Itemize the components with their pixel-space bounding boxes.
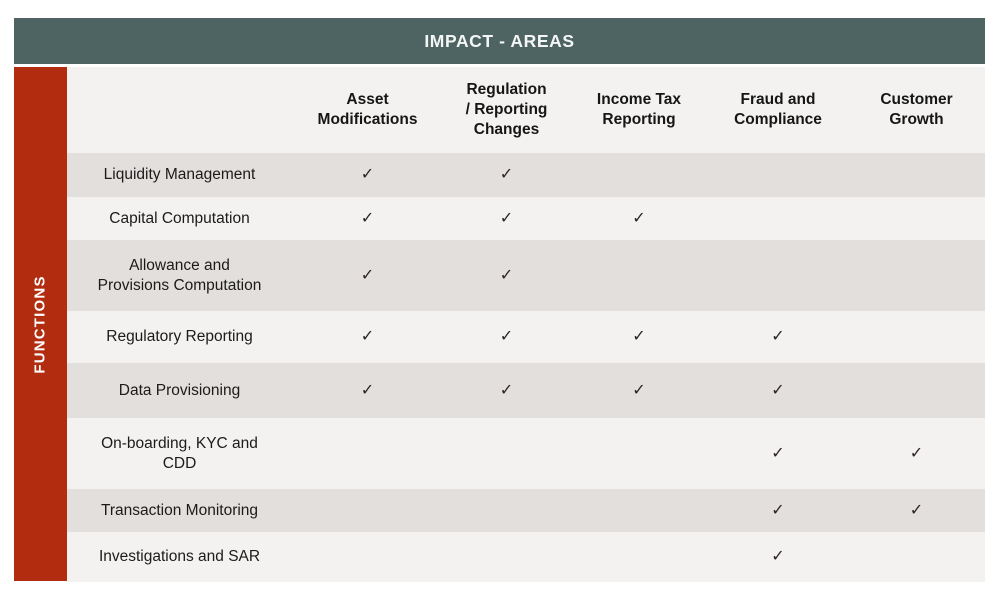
column-header-line: Compliance	[734, 111, 822, 128]
table-row: Transaction Monitoring✓✓✓✓✓	[67, 489, 985, 532]
matrix-cell: ✓	[848, 240, 985, 311]
check-icon: ✓	[500, 328, 513, 344]
row-label-line: Allowance and	[129, 257, 230, 274]
column-header-line: / Reporting	[466, 101, 548, 118]
matrix-cell: ✓	[708, 153, 848, 197]
matrix-cell: ✓	[848, 532, 985, 582]
check-icon: ✓	[500, 166, 513, 182]
column-header-line: Growth	[889, 111, 943, 128]
matrix-cell: ✓	[292, 418, 443, 489]
matrix-cell: ✓	[443, 418, 570, 489]
row-label-investigations-and-sar: Investigations and SAR	[67, 532, 292, 582]
matrix-cell: ✓	[708, 532, 848, 582]
column-header-line: Regulation	[466, 81, 546, 98]
matrix-cell: ✓	[848, 311, 985, 363]
table-row: Data Provisioning✓✓✓✓✓	[67, 363, 985, 418]
check-icon: ✓	[632, 382, 645, 398]
matrix-cell: ✓	[570, 489, 708, 532]
matrix-cell: ✓	[708, 363, 848, 418]
column-header-customer-growth: Customer Growth	[848, 67, 985, 153]
matrix-cell: ✓	[708, 240, 848, 311]
column-header-line: Changes	[474, 121, 539, 138]
check-icon: ✓	[500, 267, 513, 283]
matrix-header-row: Asset Modifications Regulation / Reporti…	[67, 67, 985, 153]
column-header-line: Asset	[346, 91, 388, 108]
check-icon: ✓	[910, 445, 923, 461]
matrix-cell: ✓	[848, 153, 985, 197]
functions-axis-rail: FUNCTIONS	[14, 67, 67, 581]
row-label-regulatory-reporting: Regulatory Reporting	[67, 311, 292, 363]
row-label-data-provisioning: Data Provisioning	[67, 363, 292, 418]
impact-areas-matrix-figure: IMPACT - AREAS FUNCTIONS Asset Modificat…	[0, 0, 1000, 610]
row-label-line: Data Provisioning	[119, 382, 240, 399]
check-icon: ✓	[361, 166, 374, 182]
column-header-income-tax-reporting: Income Tax Reporting	[570, 67, 708, 153]
functions-axis-label: FUNCTIONS	[32, 275, 49, 373]
check-icon: ✓	[361, 267, 374, 283]
column-header-line: Reporting	[602, 111, 675, 128]
matrix-cell: ✓	[708, 311, 848, 363]
matrix-cell: ✓	[848, 489, 985, 532]
column-header-line: Modifications	[318, 111, 418, 128]
check-icon: ✓	[771, 382, 784, 398]
matrix-cell: ✓	[292, 363, 443, 418]
matrix-cell: ✓	[443, 489, 570, 532]
impact-areas-banner: IMPACT - AREAS	[14, 18, 985, 64]
row-label-line: Investigations and SAR	[99, 548, 260, 565]
check-icon: ✓	[771, 548, 784, 564]
matrix-cell: ✓	[570, 418, 708, 489]
column-header-line: Customer	[880, 91, 952, 108]
matrix-cell: ✓	[708, 418, 848, 489]
matrix-cell: ✓	[708, 197, 848, 240]
row-label-line: Liquidity Management	[104, 166, 256, 183]
column-header-line: Fraud and	[741, 91, 816, 108]
table-row: Capital Computation✓✓✓✓✓	[67, 197, 985, 240]
matrix-cell: ✓	[292, 240, 443, 311]
table-row: Liquidity Management✓✓✓✓✓	[67, 153, 985, 197]
row-label-line: CDD	[163, 455, 197, 472]
matrix-cell: ✓	[292, 489, 443, 532]
column-header-line: Income Tax	[597, 91, 681, 108]
table-row: Allowance andProvisions Computation✓✓✓✓✓	[67, 240, 985, 311]
column-header-regulation-reporting-changes: Regulation / Reporting Changes	[443, 67, 570, 153]
column-header-fraud-and-compliance: Fraud and Compliance	[708, 67, 848, 153]
matrix-cell: ✓	[570, 197, 708, 240]
row-label-line: On-boarding, KYC and	[101, 435, 258, 452]
matrix-cell: ✓	[292, 311, 443, 363]
matrix-cell: ✓	[570, 311, 708, 363]
check-icon: ✓	[910, 502, 923, 518]
row-label-allowance-and-provisions-computation: Allowance andProvisions Computation	[67, 240, 292, 311]
matrix-cell: ✓	[443, 240, 570, 311]
matrix-cell: ✓	[848, 197, 985, 240]
matrix-cell: ✓	[443, 197, 570, 240]
check-icon: ✓	[632, 328, 645, 344]
row-label-line: Provisions Computation	[98, 277, 262, 294]
matrix-cell: ✓	[292, 532, 443, 582]
check-icon: ✓	[632, 210, 645, 226]
row-label-transaction-monitoring: Transaction Monitoring	[67, 489, 292, 532]
matrix-cell: ✓	[292, 197, 443, 240]
matrix-cell: ✓	[570, 240, 708, 311]
row-label-line: Regulatory Reporting	[106, 328, 252, 345]
check-icon: ✓	[361, 382, 374, 398]
row-label-capital-computation: Capital Computation	[67, 197, 292, 240]
check-icon: ✓	[771, 502, 784, 518]
check-icon: ✓	[771, 445, 784, 461]
matrix-cell: ✓	[443, 532, 570, 582]
matrix-cell: ✓	[570, 153, 708, 197]
row-label-line: Transaction Monitoring	[101, 502, 258, 519]
check-icon: ✓	[361, 328, 374, 344]
matrix-cell: ✓	[708, 489, 848, 532]
matrix-cell: ✓	[570, 532, 708, 582]
matrix-body: Liquidity Management✓✓✓✓✓Capital Computa…	[67, 153, 985, 582]
impact-areas-title: IMPACT - AREAS	[424, 31, 574, 52]
row-label-line: Capital Computation	[109, 210, 249, 227]
table-row: Regulatory Reporting✓✓✓✓✓	[67, 311, 985, 363]
matrix-cell: ✓	[848, 418, 985, 489]
matrix-cell: ✓	[292, 153, 443, 197]
check-icon: ✓	[500, 382, 513, 398]
impact-functions-matrix-table: Asset Modifications Regulation / Reporti…	[67, 67, 985, 582]
matrix-cell: ✓	[570, 363, 708, 418]
matrix-cell: ✓	[443, 363, 570, 418]
row-label-liquidity-management: Liquidity Management	[67, 153, 292, 197]
row-label-on-boarding-kyc-and-cdd: On-boarding, KYC andCDD	[67, 418, 292, 489]
table-row: On-boarding, KYC andCDD✓✓✓✓✓	[67, 418, 985, 489]
matrix-cell: ✓	[848, 363, 985, 418]
matrix-corner-cell	[67, 67, 292, 153]
matrix-cell: ✓	[443, 153, 570, 197]
column-header-asset-modifications: Asset Modifications	[292, 67, 443, 153]
check-icon: ✓	[771, 328, 784, 344]
check-icon: ✓	[500, 210, 513, 226]
check-icon: ✓	[361, 210, 374, 226]
matrix-cell: ✓	[443, 311, 570, 363]
table-row: Investigations and SAR✓✓✓✓✓	[67, 532, 985, 582]
